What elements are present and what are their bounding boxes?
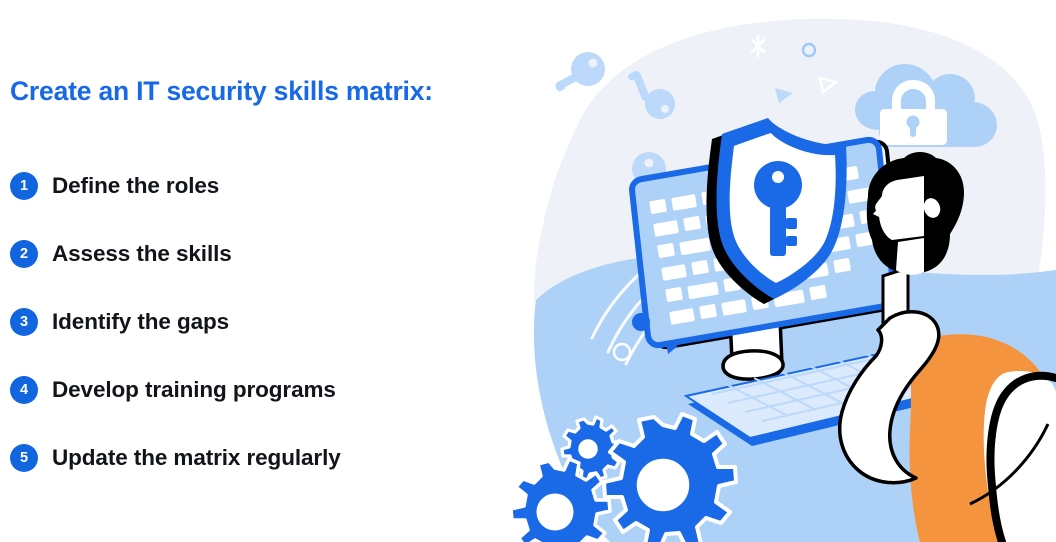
- decor-dot: [632, 313, 650, 331]
- step-number-badge: 3: [10, 308, 38, 336]
- step-number-badge: 4: [10, 376, 38, 404]
- step-label: Develop training programs: [52, 377, 336, 403]
- slide-root: Create an IT security skills matrix: 1 D…: [0, 0, 1056, 542]
- list-item: 3 Identify the gaps: [0, 288, 520, 356]
- office-chair: [909, 334, 1056, 542]
- step-label: Assess the skills: [52, 241, 232, 267]
- it-security-illustration: [480, 0, 1056, 542]
- page-title: Create an IT security skills matrix:: [10, 76, 433, 107]
- list-item: 1 Define the roles: [0, 152, 520, 220]
- text-panel: Create an IT security skills matrix: 1 D…: [0, 0, 520, 542]
- key-glyph-large: [554, 52, 605, 92]
- list-item: 5 Update the matrix regularly: [0, 424, 520, 492]
- list-item: 2 Assess the skills: [0, 220, 520, 288]
- list-item: 4 Develop training programs: [0, 356, 520, 424]
- step-number-badge: 2: [10, 240, 38, 268]
- step-label: Update the matrix regularly: [52, 445, 341, 471]
- steps-list: 1 Define the roles 2 Assess the skills 3…: [0, 152, 520, 492]
- step-number-badge: 1: [10, 172, 38, 200]
- step-label: Identify the gaps: [52, 309, 229, 335]
- step-label: Define the roles: [52, 173, 219, 199]
- step-number-badge: 5: [10, 444, 38, 472]
